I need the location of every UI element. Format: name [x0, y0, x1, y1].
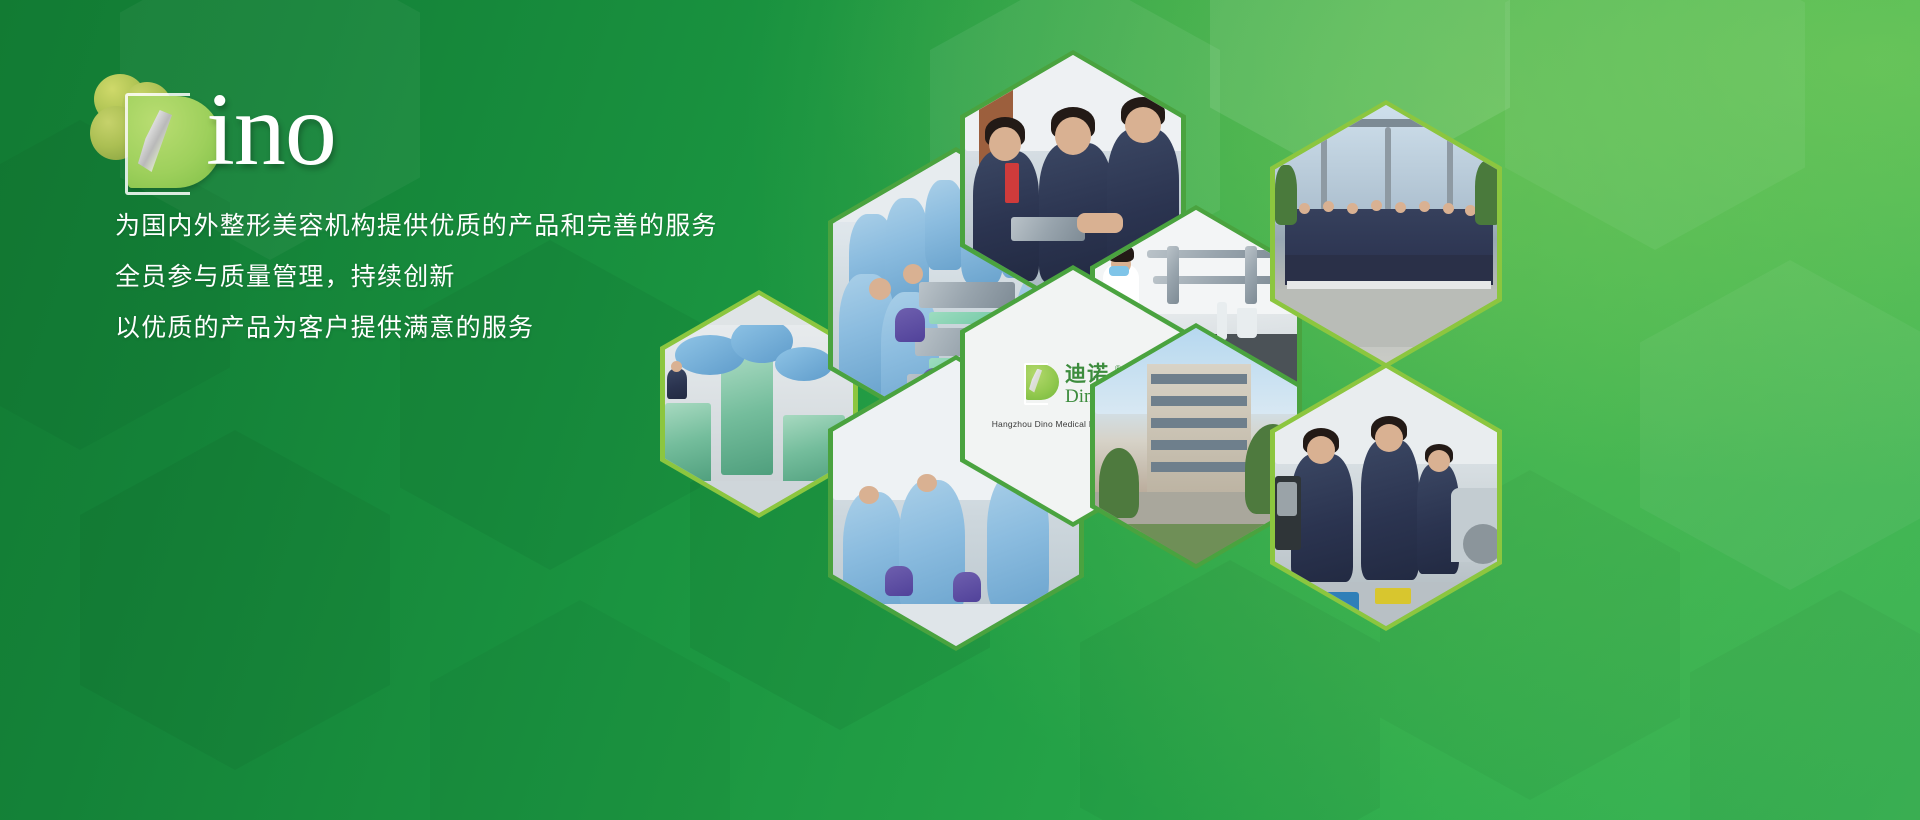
bg-hexagon [1690, 590, 1920, 820]
photo-honeycomb: 迪诺 Dino ® Hangzhou Dino Medical Instrume… [660, 95, 1920, 575]
dino-mark-icon [1025, 364, 1059, 400]
dino-logo[interactable]: ino [88, 72, 408, 182]
photo-cell-cnc-operators[interactable] [1270, 363, 1502, 631]
bg-hexagon [80, 430, 390, 770]
brand-wordmark: ino [206, 78, 336, 182]
photo-cell-company-group-photo[interactable] [1270, 100, 1502, 368]
bg-hexagon [430, 600, 730, 820]
hero-banner: ino 为国内外整形美容机构提供优质的产品和完善的服务 全员参与质量管理，持续创… [0, 0, 1920, 820]
